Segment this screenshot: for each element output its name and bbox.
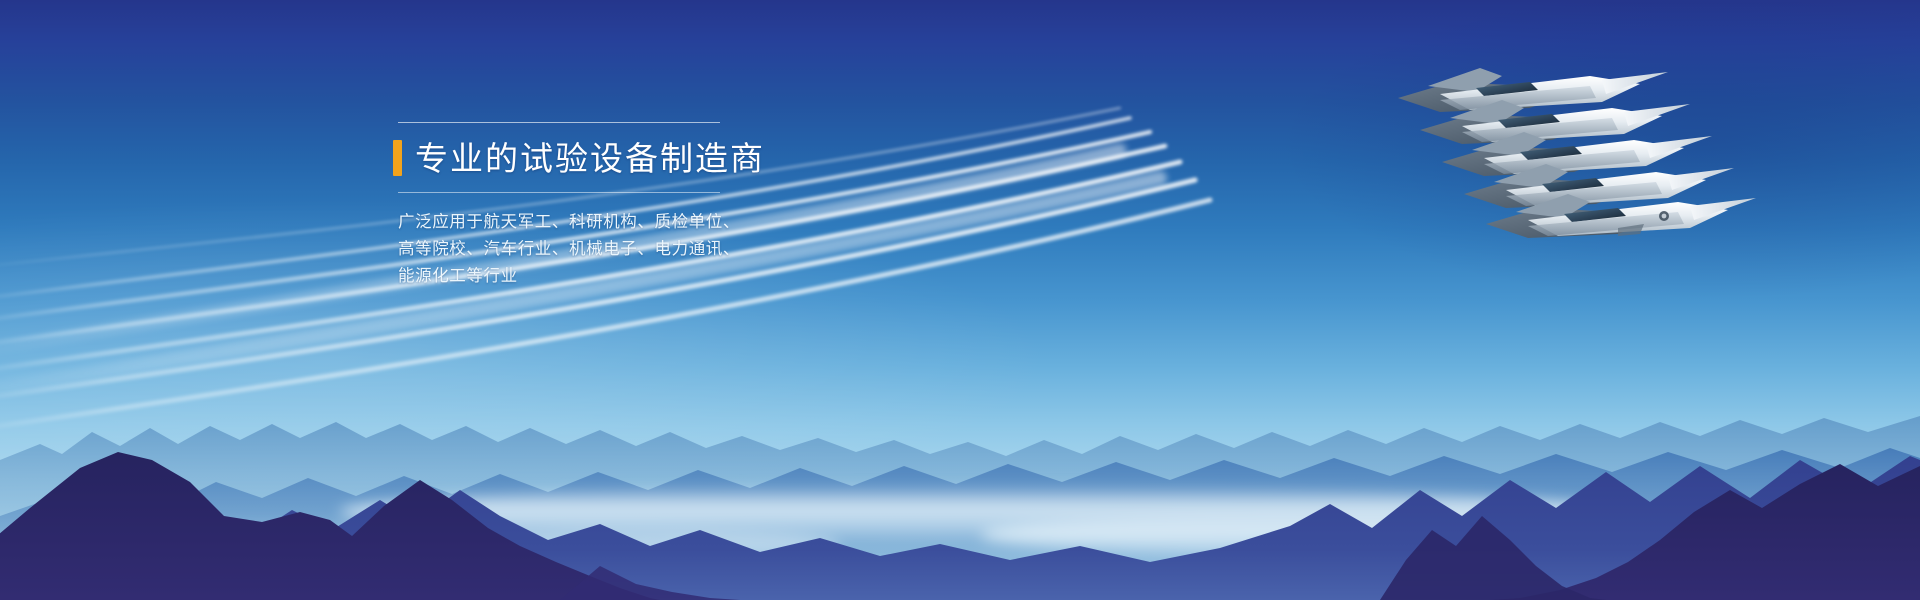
accent-bar-icon (393, 140, 402, 176)
page-title: 专业的试验设备制造商 (415, 142, 765, 175)
banner-copy-block: 专业的试验设备制造商 广泛应用于航天军工、科研机构、质检单位、 高等院校、汽车行… (393, 122, 753, 290)
banner-subtitle: 广泛应用于航天军工、科研机构、质检单位、 高等院校、汽车行业、机械电子、电力通讯… (398, 209, 753, 290)
mountain-silhouettes (0, 340, 1920, 600)
headline-rule-bottom (398, 192, 720, 193)
hero-banner: 专业的试验设备制造商 广泛应用于航天军工、科研机构、质检单位、 高等院校、汽车行… (0, 0, 1920, 600)
subtitle-line-1: 广泛应用于航天军工、科研机构、质检单位、 (398, 209, 753, 236)
subtitle-line-2: 高等院校、汽车行业、机械电子、电力通讯、 (398, 236, 753, 263)
subtitle-line-3: 能源化工等行业 (398, 263, 753, 290)
fighter-jet-formation (1380, 46, 1850, 276)
headline-row: 专业的试验设备制造商 (393, 132, 753, 184)
headline-rule-top (398, 122, 720, 123)
